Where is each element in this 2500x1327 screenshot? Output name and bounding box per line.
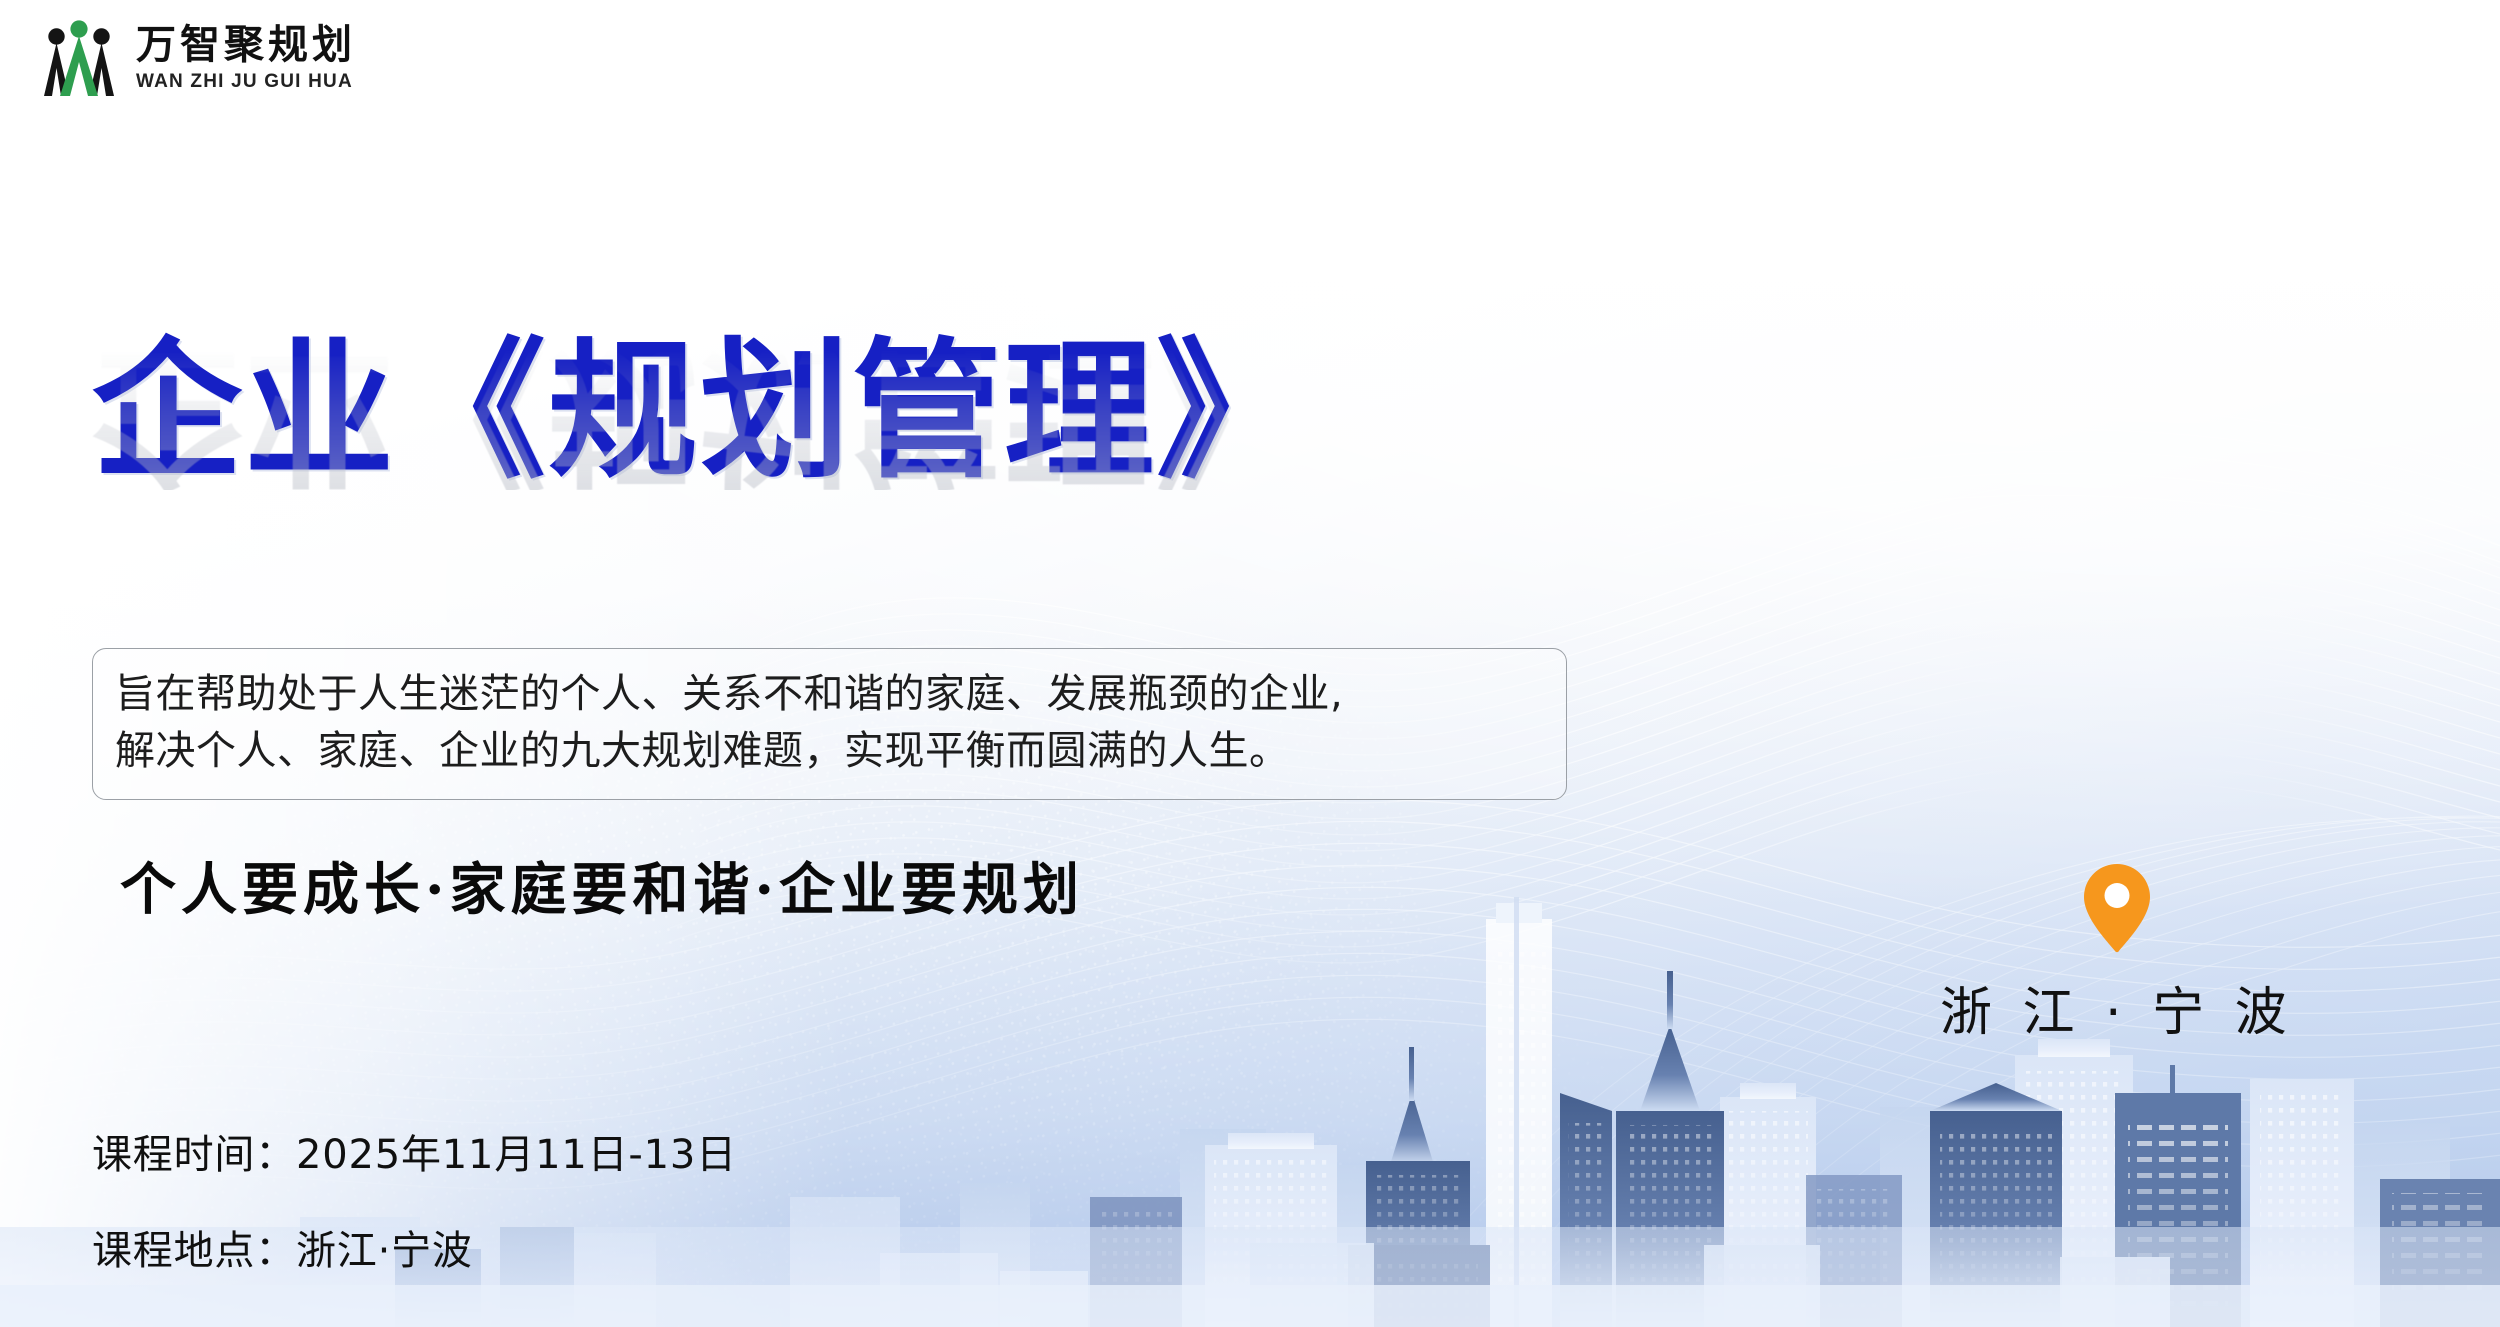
course-time-line: 课程时间：2025年11月11日-13日 bbox=[92, 1122, 737, 1180]
page-title-reflection: 企业《规划管理》 bbox=[92, 340, 1308, 490]
brand-logo[interactable]: 万智聚规划 WAN ZHI JU GUI HUA bbox=[36, 18, 356, 98]
headline-group: 企业《规划管理》 企业《规划管理》 bbox=[92, 336, 1308, 640]
brand-logo-text: 万智聚规划 WAN ZHI JU GUI HUA bbox=[136, 25, 356, 91]
three-people-group-icon bbox=[36, 18, 122, 98]
footer-info: 课程时间：2025年11月11日-13日 课程地点：浙江·宁波 bbox=[92, 1122, 737, 1276]
map-pin-icon bbox=[2080, 862, 2154, 954]
location-label: 浙 江 · 宁 波 bbox=[1940, 970, 2294, 1045]
poster-canvas: 万智聚规划 WAN ZHI JU GUI HUA 企业《规划管理》 企业《规划管… bbox=[0, 0, 2500, 1327]
brand-name-en: WAN ZHI JU GUI HUA bbox=[136, 72, 356, 91]
slogan-text: 个人要成长·家庭要和谐·企业要规划 bbox=[120, 845, 1084, 926]
course-location-line: 课程地点：浙江·宁波 bbox=[92, 1218, 737, 1276]
location-block: 浙 江 · 宁 波 bbox=[1940, 862, 2294, 1045]
description-line-2: 解决个人、家庭、企业的九大规划难题，实现平衡而圆满的人生。 bbox=[115, 723, 1544, 780]
brand-name-cn: 万智聚规划 bbox=[136, 25, 356, 65]
description-box: 旨在帮助处于人生迷茫的个人、关系不和谐的家庭、发展瓶颈的企业, 解决个人、家庭、… bbox=[92, 648, 1567, 800]
description-line-1: 旨在帮助处于人生迷茫的个人、关系不和谐的家庭、发展瓶颈的企业, bbox=[115, 666, 1544, 723]
